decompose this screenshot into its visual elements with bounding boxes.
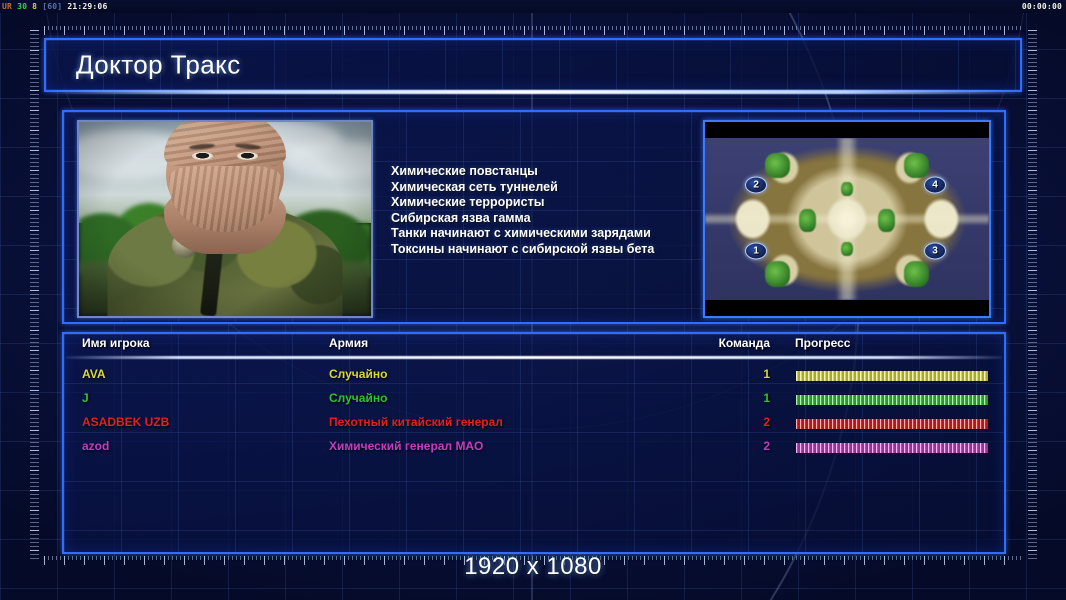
table-row[interactable]: JСлучайно1 — [64, 388, 1004, 412]
status-system-time: 21:29:06 — [67, 2, 107, 11]
minimap-trees — [841, 242, 852, 257]
description-line: Химические повстанцы — [391, 164, 721, 180]
player-progress-bar — [795, 394, 989, 406]
title-underline — [48, 90, 1018, 94]
minimap-center-flare — [827, 199, 867, 239]
player-progress-fill — [796, 443, 988, 453]
game-lobby-screen: UR 30 8 [60] 21:29:06 00:00:00 Доктор Тр… — [0, 0, 1066, 600]
general-portrait — [77, 120, 373, 318]
player-team: 1 — [714, 367, 770, 381]
player-list-header-rule — [66, 356, 1002, 359]
title-panel: Доктор Тракс — [44, 38, 1022, 92]
minimap-trees — [841, 182, 852, 197]
player-progress-fill — [796, 371, 988, 381]
player-army: Пехотный китайский генерал — [329, 415, 503, 429]
minimap-trees — [765, 153, 791, 179]
column-header-army: Армия — [329, 336, 368, 350]
description-line: Токсины начинают с сибирской язвы бета — [391, 242, 721, 258]
description-line: Танки начинают с химическими зарядами — [391, 226, 721, 242]
player-name: J — [82, 391, 89, 405]
ruler-top — [44, 26, 1022, 35]
status-fps: 30 — [17, 2, 27, 11]
player-list-header: Имя игрока Армия Команда Прогресс — [64, 334, 1004, 356]
minimap-trees — [904, 261, 930, 287]
player-progress-bar — [795, 418, 989, 430]
ruler-right — [1028, 30, 1037, 560]
player-list-panel: Имя игрока Армия Команда Прогресс AVAСлу… — [62, 332, 1006, 554]
minimap-start-position[interactable]: 3 — [924, 243, 946, 260]
player-progress-bar — [795, 442, 989, 454]
minimap-canvas: 1 2 3 4 — [705, 138, 989, 300]
description-line: Сибирская язва гамма — [391, 211, 721, 227]
player-progress-fill — [796, 419, 988, 429]
description-line: Химические террористы — [391, 195, 721, 211]
table-row[interactable]: azodХимический генерал МАО2 — [64, 436, 1004, 460]
player-team: 2 — [714, 439, 770, 453]
player-army: Случайно — [329, 391, 387, 405]
table-row[interactable]: ASADBEK UZBПехотный китайский генерал2 — [64, 412, 1004, 436]
minimap-start-position[interactable]: 1 — [745, 243, 767, 260]
player-name: AVA — [82, 367, 106, 381]
player-progress-fill — [796, 395, 988, 405]
minimap[interactable]: 1 2 3 4 — [703, 120, 991, 318]
player-army: Случайно — [329, 367, 387, 381]
status-net-label: UR — [2, 2, 12, 11]
column-header-progress: Прогресс — [795, 336, 850, 350]
player-team: 1 — [714, 391, 770, 405]
minimap-trees — [904, 153, 930, 179]
status-bracket: [60] — [42, 2, 62, 11]
general-description: Химические повстанцы Химическая сеть тун… — [391, 164, 721, 258]
status-elapsed-timer: 00:00:00 — [1022, 0, 1062, 13]
player-name: azod — [82, 439, 109, 453]
info-panel: Химические повстанцы Химическая сеть тун… — [62, 110, 1006, 324]
minimap-start-position[interactable]: 2 — [745, 176, 767, 193]
resolution-caption: 1920 x 1080 — [0, 553, 1066, 581]
column-header-team: Команда — [714, 336, 770, 350]
table-row[interactable]: AVAСлучайно1 — [64, 364, 1004, 388]
portrait-image — [79, 122, 371, 316]
ruler-left — [30, 30, 39, 560]
portrait-vignette — [79, 122, 371, 316]
status-ping: 8 — [32, 2, 37, 11]
column-header-name: Имя игрока — [82, 336, 150, 350]
player-army: Химический генерал МАО — [329, 439, 483, 453]
minimap-trees — [878, 209, 895, 232]
minimap-trees — [765, 261, 791, 287]
status-bar: UR 30 8 [60] 21:29:06 00:00:00 — [0, 0, 1066, 13]
description-line: Химическая сеть туннелей — [391, 180, 721, 196]
minimap-start-position[interactable]: 4 — [924, 176, 946, 193]
player-progress-bar — [795, 370, 989, 382]
page-title: Доктор Тракс — [76, 50, 241, 81]
minimap-trees — [799, 209, 816, 232]
player-team: 2 — [714, 415, 770, 429]
status-bar-left: UR 30 8 [60] 21:29:06 — [2, 0, 107, 13]
player-name: ASADBEK UZB — [82, 415, 169, 429]
